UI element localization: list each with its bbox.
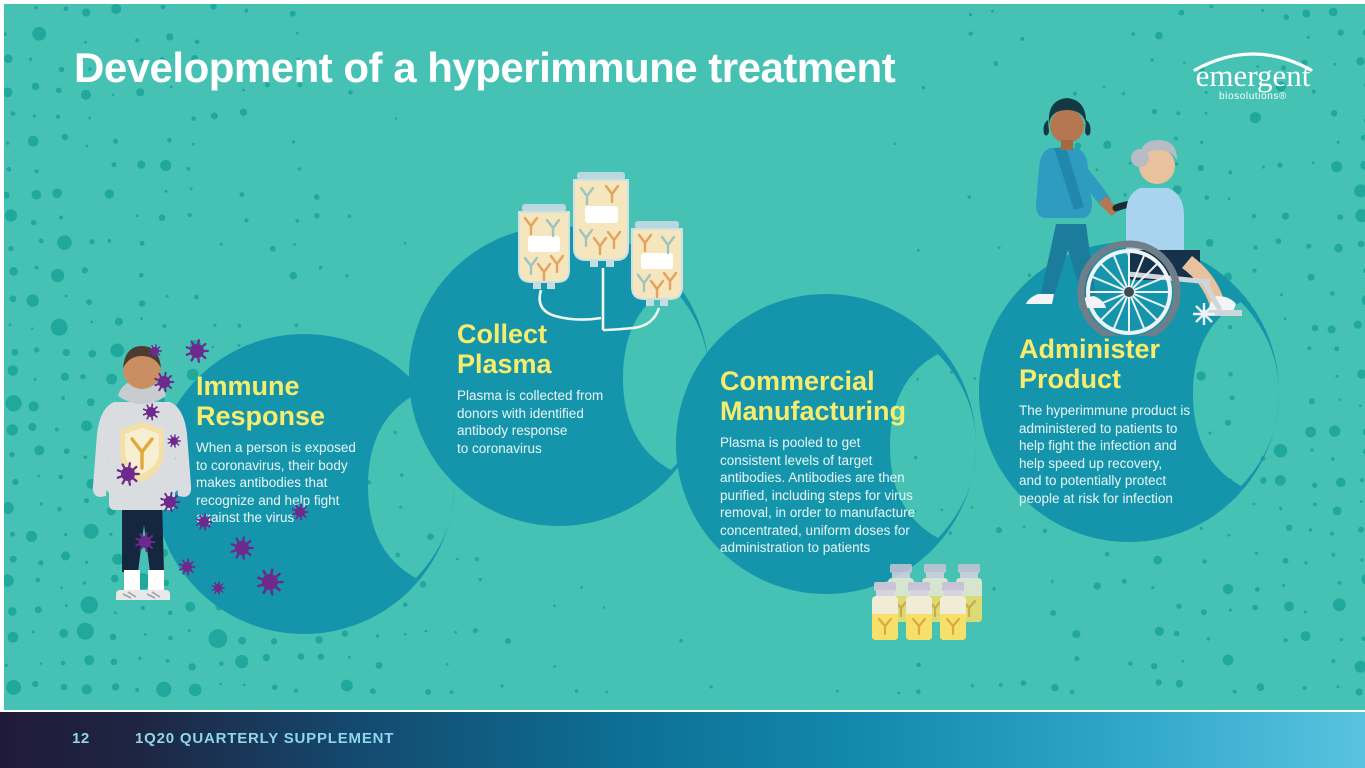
emergent-biosolutions-logo: emergent biosolutions® [1163, 44, 1343, 106]
slide-canvas: Immune Response When a person is exposed… [4, 4, 1365, 710]
step-immune-response-title: Immune Response [196, 371, 386, 431]
person-with-antibody-shield-icon [82, 340, 202, 625]
slide-footer: 12 1Q20 QUARTERLY SUPPLEMENT [0, 712, 1365, 768]
presentation-slide: Immune Response When a person is exposed… [0, 0, 1365, 768]
step-commercial-manufacturing-text: Commercial Manufacturing Plasma is poole… [720, 366, 942, 557]
step-commercial-manufacturing-body: Plasma is pooled to get consistent level… [720, 434, 942, 557]
nurse-pushing-wheelchair-icon [1024, 96, 1254, 336]
step-immune-response-text: Immune Response When a person is exposed… [196, 371, 386, 527]
step-immune-response-body: When a person is exposed to coronavirus,… [196, 439, 386, 527]
footer-label: 1Q20 QUARTERLY SUPPLEMENT [135, 730, 394, 747]
step-collect-plasma-body: Plasma is collected from donors with ide… [457, 387, 642, 457]
page-title: Development of a hyperimmune treatment [74, 44, 895, 92]
plasma-iv-bags-icon [499, 172, 699, 332]
step-commercial-manufacturing-title: Commercial Manufacturing [720, 366, 942, 426]
footer-page-number: 12 [72, 730, 90, 747]
step-collect-plasma-text: Collect Plasma Plasma is collected from … [457, 319, 642, 457]
logo-tagline: biosolutions® [1163, 91, 1343, 102]
step-commercial-manufacturing: Commercial Manufacturing Plasma is poole… [676, 294, 976, 594]
step-administer-product-title: Administer Product [1019, 334, 1229, 394]
logo-wordmark: emergent [1163, 58, 1343, 94]
step-administer-product-body: The hyperimmune product is administered … [1019, 402, 1229, 507]
step-administer-product-text: Administer Product The hyperimmune produ… [1019, 334, 1229, 507]
vials-rack-icon [870, 564, 986, 642]
